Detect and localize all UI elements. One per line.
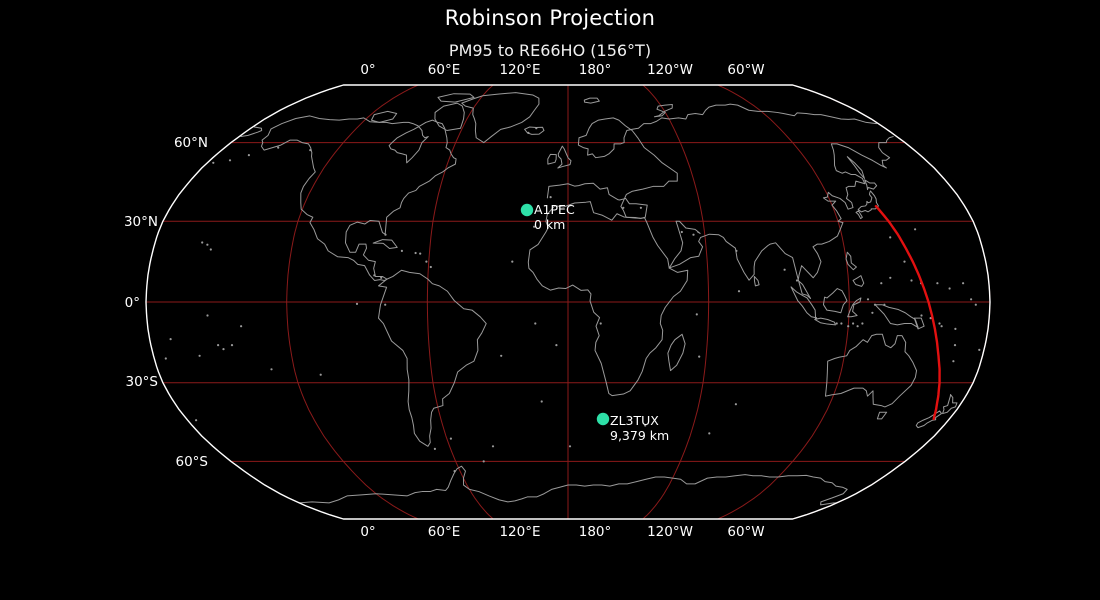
island-dot (229, 159, 231, 161)
island-dot (541, 400, 543, 402)
island-dot (212, 162, 214, 164)
station-marker-zl3tux[interactable] (597, 413, 609, 425)
island-dot (889, 236, 891, 238)
island-dot (952, 360, 954, 362)
coastline-nz_north (943, 395, 957, 414)
station-distance: 9,379 km (610, 429, 669, 444)
island-dot (170, 338, 172, 340)
lon-label-top-0: 0° (360, 62, 375, 78)
robinson-map-canvas (0, 0, 1100, 600)
island-dot (836, 322, 838, 324)
island-dot (206, 314, 208, 316)
coastline-srilanka (754, 276, 759, 285)
great-circle-line (876, 206, 940, 419)
coastline-victoria (371, 111, 396, 122)
coastline-novaya (655, 105, 673, 117)
coastline-greenland (462, 93, 539, 143)
island-dot (600, 322, 602, 324)
island-dot (692, 234, 694, 236)
coastline-svalbard (584, 98, 599, 103)
island-dot (796, 279, 798, 281)
island-dot (903, 261, 905, 263)
island-dot (217, 344, 219, 346)
island-dot (738, 290, 740, 292)
island-dot (698, 356, 700, 358)
lon-label-top-5: 60°W (727, 62, 764, 78)
lon-label-bottom-4: 120°W (647, 524, 693, 540)
island-dot (483, 460, 485, 462)
coastline-antarctica (299, 466, 847, 505)
island-dot (320, 374, 322, 376)
island-dot (696, 313, 698, 315)
island-dot (622, 207, 624, 209)
island-dot (384, 304, 386, 306)
island-dot (708, 432, 710, 434)
island-dot (569, 445, 571, 447)
coastline-cuba (373, 240, 397, 249)
island-dot (430, 266, 432, 268)
island-dot (978, 349, 980, 351)
island-dot (857, 325, 859, 327)
island-dot (195, 419, 197, 421)
island-dot (970, 298, 972, 300)
island-dot (415, 252, 417, 254)
coastline-eurasia (547, 104, 876, 218)
lat-label-2: 0° (125, 295, 140, 311)
island-dot (735, 403, 737, 405)
island-dot (920, 314, 922, 316)
island-dot (384, 234, 386, 236)
island-dot (527, 132, 529, 134)
island-dot (954, 328, 956, 330)
island-dot (380, 277, 382, 279)
island-dot (201, 241, 203, 243)
lon-label-top-2: 120°E (499, 62, 540, 78)
coastline-mindanao (853, 276, 864, 287)
island-dot (815, 317, 817, 319)
lon-label-top-1: 60°E (428, 62, 460, 78)
island-dot (419, 253, 421, 255)
island-dot (555, 344, 557, 346)
island-dot (914, 228, 916, 230)
station-label-a1pec: A1PEC0 km (534, 203, 575, 233)
coastline-png (875, 305, 918, 328)
coastline-australia (825, 334, 916, 407)
lon-label-bottom-2: 120°E (499, 524, 540, 540)
island-dot (975, 304, 977, 306)
station-callsign: ZL3TUX (610, 414, 669, 429)
island-dot (867, 298, 869, 300)
lat-label-0: 60°N (174, 135, 208, 151)
coastline-honshu (858, 191, 878, 212)
island-dot (373, 274, 375, 276)
lat-label-1: 30°N (124, 214, 158, 230)
island-dot (840, 322, 842, 324)
island-dot (936, 282, 938, 284)
lat-label-4: 60°S (176, 454, 209, 470)
station-marker-a1pec[interactable] (521, 204, 533, 216)
island-dot (309, 149, 311, 151)
island-dot (871, 312, 873, 314)
island-dot (231, 344, 233, 346)
island-dot (640, 207, 642, 209)
island-dot (735, 250, 737, 252)
coastline-sam (378, 270, 486, 446)
lon-label-bottom-3: 180° (579, 524, 612, 540)
island-dot (206, 244, 208, 246)
station-callsign: A1PEC (534, 203, 575, 218)
coastline-nz_south (916, 411, 941, 428)
lon-label-top-4: 120°W (647, 62, 693, 78)
island-dot (401, 250, 403, 252)
island-dot (874, 304, 876, 306)
island-dot (681, 231, 683, 233)
island-dot (277, 147, 279, 149)
island-dot (847, 325, 849, 327)
island-dot (534, 322, 536, 324)
island-dot (550, 196, 552, 198)
island-dot (500, 355, 502, 357)
island-dot (222, 348, 224, 350)
station-label-zl3tux: ZL3TUX9,379 km (610, 414, 669, 444)
island-dot (356, 303, 358, 305)
graticule-layer (146, 85, 990, 519)
island-dot (941, 325, 943, 327)
island-dot (962, 282, 964, 284)
lon-label-bottom-5: 60°W (727, 524, 764, 540)
island-dot (880, 282, 882, 284)
lon-label-top-3: 180° (579, 62, 612, 78)
lon-label-bottom-1: 60°E (428, 524, 460, 540)
island-dot (511, 261, 513, 263)
island-dot (954, 344, 956, 346)
island-dot (949, 287, 951, 289)
island-dot (454, 470, 456, 472)
coastline-madagascar (668, 334, 685, 370)
coastline-java (815, 318, 836, 325)
island-dot (240, 325, 242, 327)
lat-label-3: 30°S (126, 374, 159, 390)
island-dot (492, 445, 494, 447)
island-dot (199, 355, 201, 357)
coastline-uk (558, 146, 571, 168)
island-dot (910, 279, 912, 281)
map-figure: Robinson Projection PM95 to RE66HO (156°… (0, 0, 1100, 600)
island-dot (883, 304, 885, 306)
great-circle-path (876, 206, 940, 419)
station-distance: 0 km (534, 218, 575, 233)
island-dot (938, 322, 940, 324)
island-dot (450, 438, 452, 440)
island-dot (889, 277, 891, 279)
island-dot (210, 248, 212, 250)
island-dot (270, 368, 272, 370)
lon-label-bottom-0: 0° (360, 524, 375, 540)
island-dot (165, 357, 167, 359)
coastline-baffin (435, 103, 464, 130)
coastline-hokkaido (865, 180, 877, 190)
island-dot (248, 154, 250, 156)
island-dot (425, 261, 427, 263)
island-dot (861, 322, 863, 324)
coastline-ireland (548, 154, 556, 164)
island-dot (784, 269, 786, 271)
coastline-tasmania (877, 412, 886, 419)
island-dot (535, 127, 537, 129)
island-dot (852, 322, 854, 324)
coastline-borneo (823, 289, 846, 313)
island-dot (434, 448, 436, 450)
